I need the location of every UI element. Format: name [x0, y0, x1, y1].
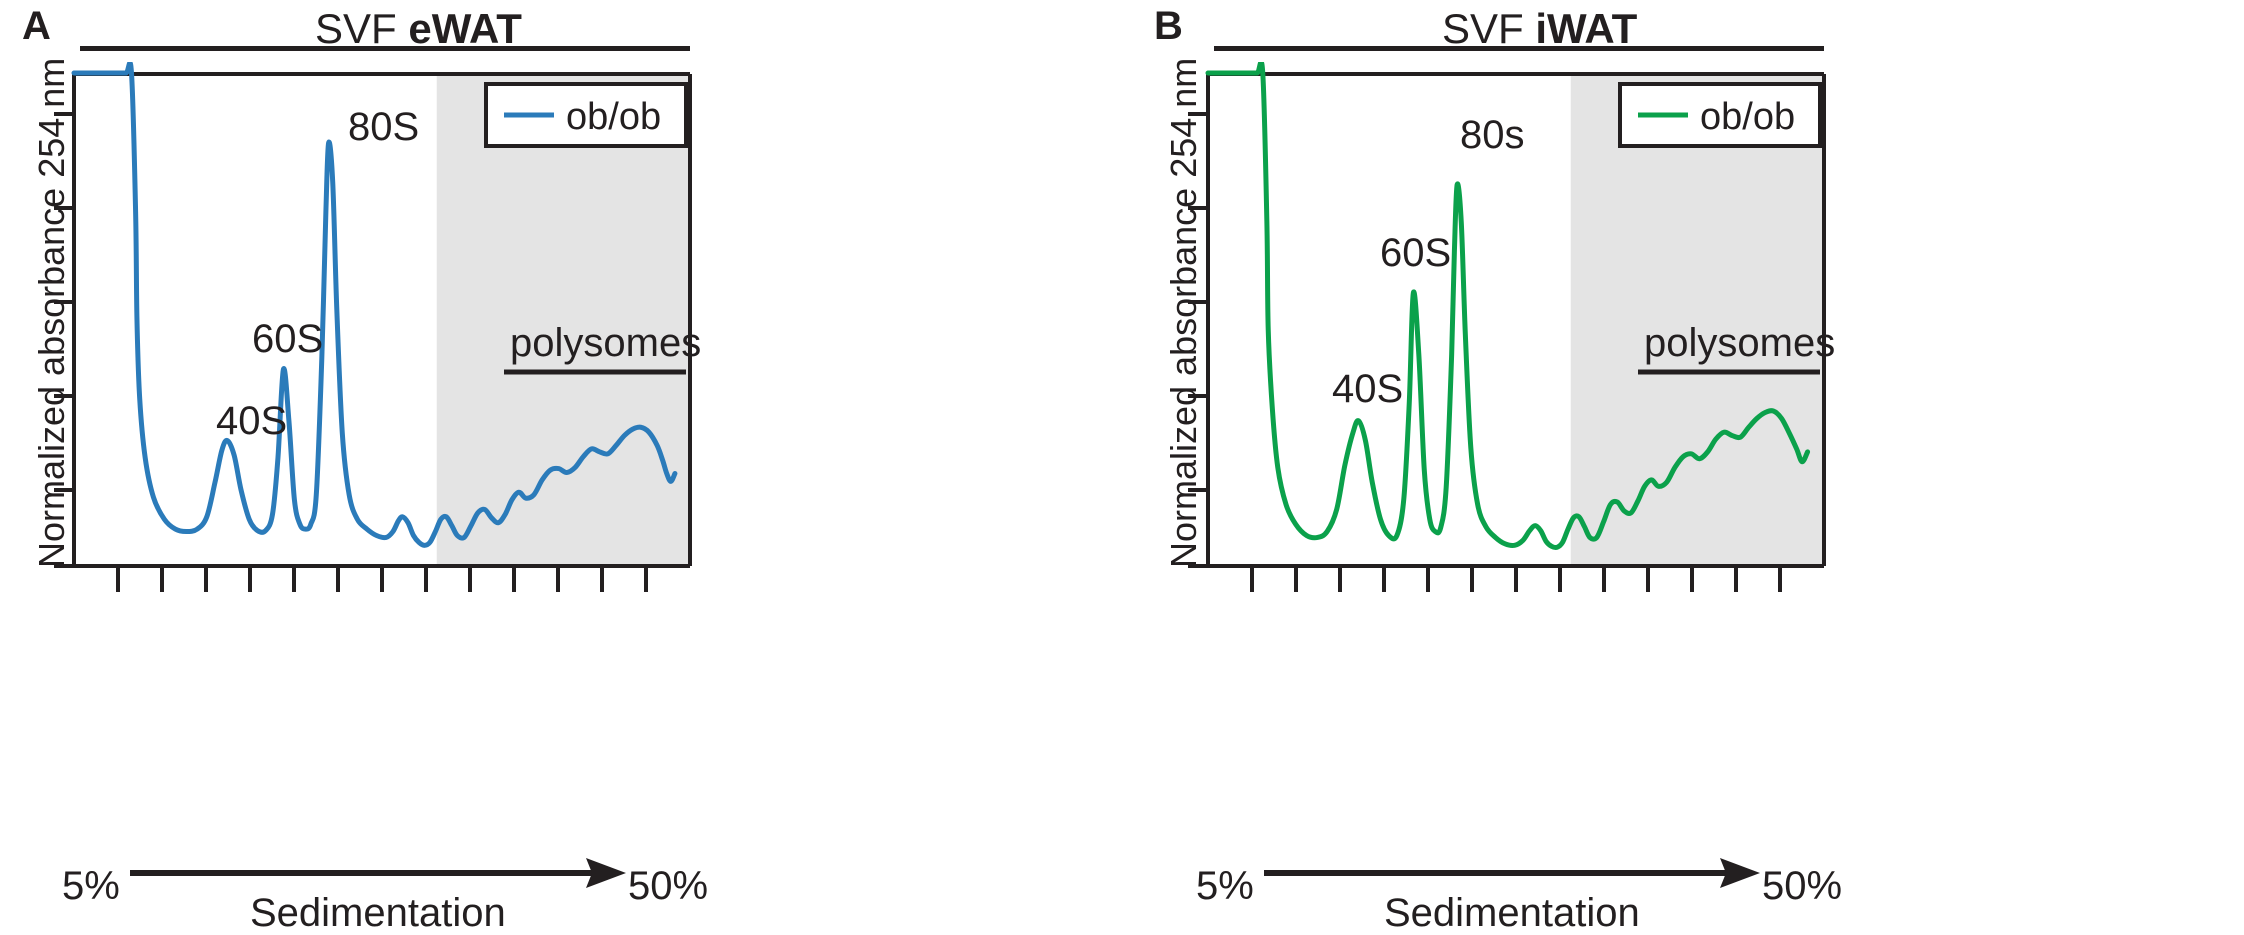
panel-title-b-prefix: SVF — [1442, 5, 1535, 52]
panel-b-legend-label-obob: ob/ob — [1700, 96, 1795, 138]
panel-title-a: SVF eWAT — [315, 8, 522, 50]
panel-a: A SVF eWAT Normalized absorbance 254 nm — [0, 0, 1122, 932]
panel-a-y-ticks — [54, 114, 74, 566]
panel-b-polysomes-label: polysomes — [1644, 321, 1835, 365]
panel-letter-a: A — [22, 6, 51, 46]
panel-a-sedimentation-arrow — [130, 856, 630, 890]
panel-b-title-rule — [1214, 46, 1824, 51]
panel-a-polysomes-label: polysomes — [510, 321, 701, 365]
panel-b-y-ticks — [1188, 114, 1208, 566]
panel-a-xlabel: Sedimentation — [250, 893, 506, 933]
panel-b: B SVF iWAT Normalized absorbance 254 nm — [1122, 0, 2244, 932]
panel-b-x-start-label: 5% — [1196, 866, 1254, 906]
panel-title-b-tissue: iWAT — [1535, 5, 1637, 52]
panel-b-sedimentation-arrow — [1264, 856, 1764, 890]
panel-letter-b: B — [1154, 6, 1183, 46]
panel-a-peak-label-60s: 60S — [252, 317, 323, 361]
panel-b-legend: ob/ob — [1620, 84, 1820, 146]
panel-a-x-ticks — [118, 566, 646, 592]
panel-title-a-prefix: SVF — [315, 5, 408, 52]
figure-root: A SVF eWAT Normalized absorbance 254 nm — [0, 0, 2244, 932]
panel-b-xlabel: Sedimentation — [1384, 893, 1640, 933]
panel-a-peak-label-40s: 40S — [216, 399, 287, 443]
panel-a-legend: ob/ob — [486, 84, 686, 146]
panel-a-x-start-label: 5% — [62, 866, 120, 906]
panel-b-peak-label-60s: 60S — [1380, 231, 1451, 275]
panel-a-legend-label-obob: ob/ob — [566, 96, 661, 138]
panel-b-x-end-label: 50% — [1762, 866, 1842, 906]
panel-title-a-tissue: eWAT — [408, 5, 522, 52]
panel-a-peak-label-80s: 80S — [348, 105, 419, 149]
panel-b-plot: 40S 60S 80s polysomes ob/ob — [1176, 62, 1836, 852]
panel-a-title-rule — [80, 46, 690, 51]
panel-b-x-ticks — [1252, 566, 1780, 592]
panel-title-b: SVF iWAT — [1442, 8, 1637, 50]
panel-a-plot: 40S 60S 80S polysomes ob/ob — [42, 62, 702, 852]
panel-b-peak-label-80s: 80s — [1460, 113, 1525, 157]
panel-a-x-end-label: 50% — [628, 866, 708, 906]
panel-b-peak-label-40s: 40S — [1332, 367, 1403, 411]
